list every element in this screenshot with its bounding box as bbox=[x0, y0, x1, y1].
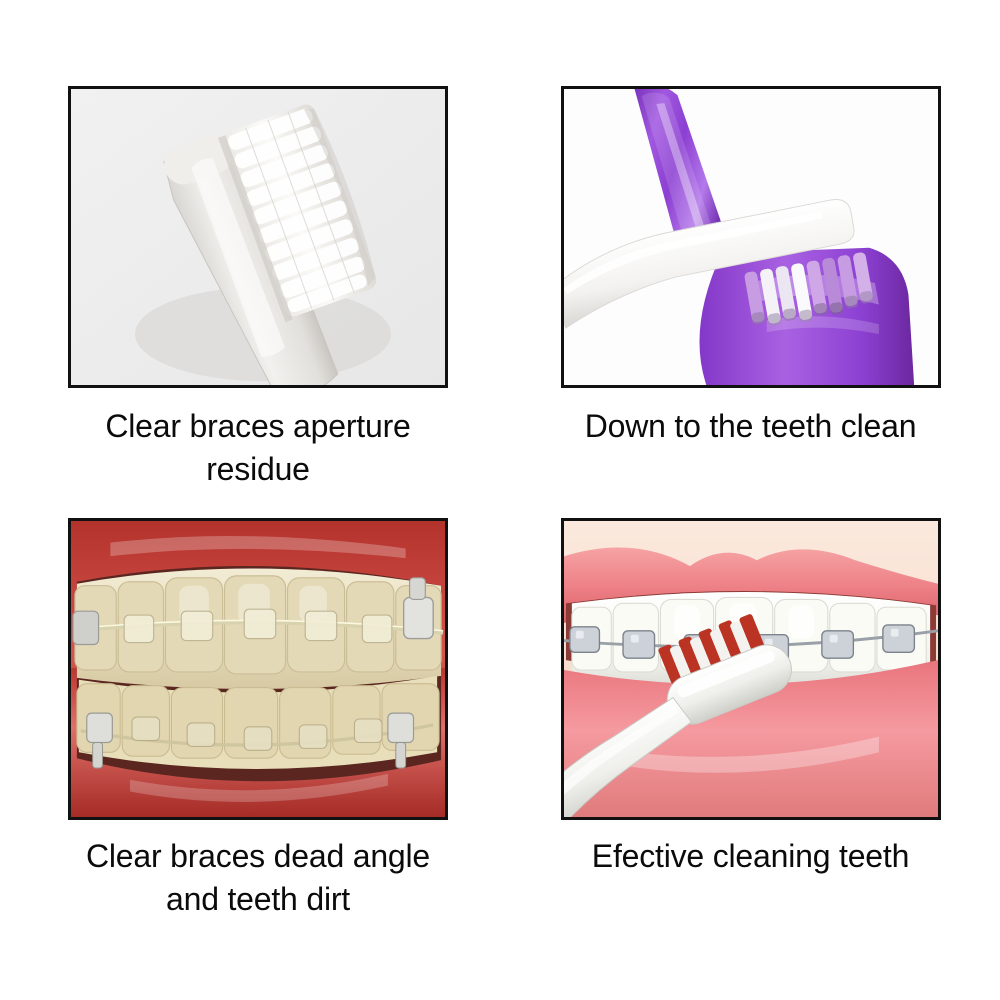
feature-cell-1: Clear braces aperture residue bbox=[0, 0, 500, 500]
brushing-teeth-with-metal-braces bbox=[564, 521, 938, 817]
feature-image-3 bbox=[68, 518, 448, 820]
feature-cell-4: Efective cleaning teeth bbox=[500, 500, 1000, 1000]
feature-caption-1: Clear braces aperture residue bbox=[58, 405, 458, 490]
feature-image-4 bbox=[561, 518, 941, 820]
feature-image-2 bbox=[561, 86, 941, 388]
feature-caption-2: Down to the teeth clean bbox=[551, 405, 951, 448]
infographic-page: Clear braces aperture residue bbox=[0, 0, 1000, 1000]
white-toothbrush-head-closeup bbox=[71, 89, 445, 385]
feature-cell-2: Down to the teeth clean bbox=[500, 0, 1000, 500]
mouth-with-clear-ceramic-braces bbox=[71, 521, 445, 817]
feature-grid: Clear braces aperture residue bbox=[0, 0, 1000, 1000]
feature-cell-3: Clear braces dead angle and teeth dirt bbox=[0, 500, 500, 1000]
feature-image-1 bbox=[68, 86, 448, 388]
feature-caption-4: Efective cleaning teeth bbox=[551, 835, 951, 878]
feature-caption-3: Clear braces dead angle and teeth dirt bbox=[58, 835, 458, 920]
toothbrush-brushing-purple-handle bbox=[564, 89, 938, 385]
